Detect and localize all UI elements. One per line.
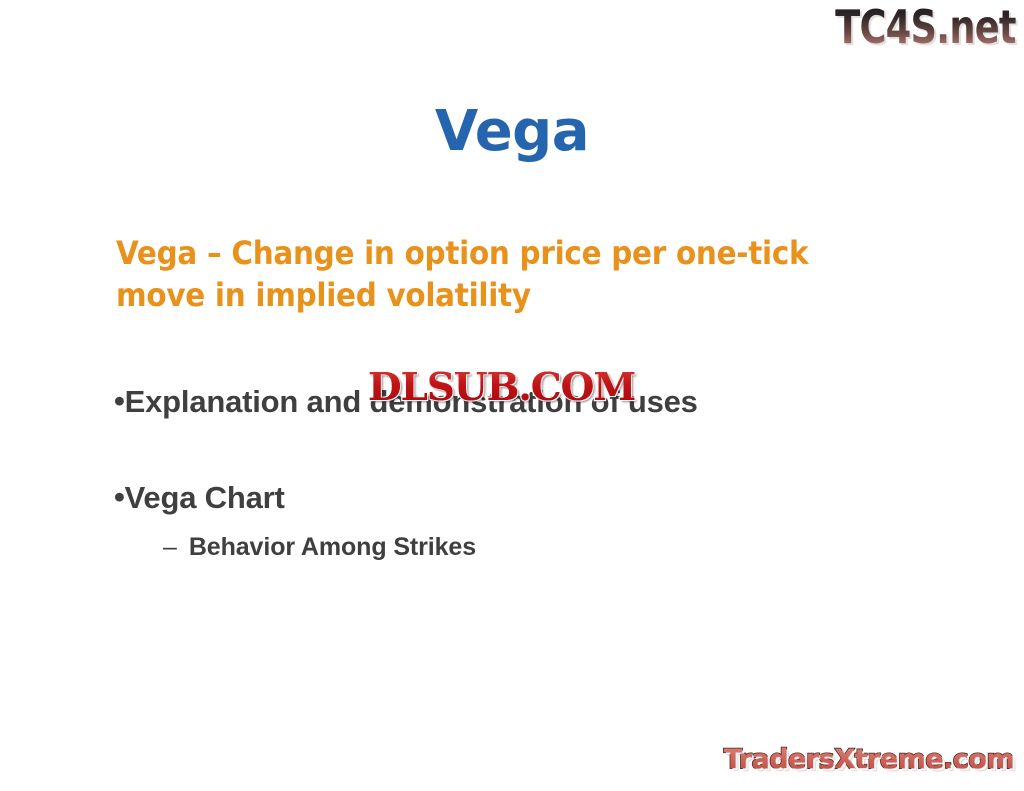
definition-line-1: Vega – Change in option price per one-ti… (116, 232, 843, 274)
bullet-dot-icon: • (114, 383, 125, 418)
page-title: Vega (0, 100, 1024, 164)
definition-block: Vega – Change in option price per one-ti… (116, 232, 843, 316)
bullet-dash-icon: – (163, 533, 189, 561)
slide-canvas: TC4S.net TC4S.net Vega Vega – Change in … (0, 0, 1024, 791)
bullet-behavior-among-strikes: –Behavior Among Strikes (163, 530, 476, 564)
tc4s-logo: TC4S.net (835, 2, 1016, 52)
definition-line-2: move in implied volatility (116, 274, 843, 316)
dlsub-watermark: DLSUB.COM (368, 366, 635, 408)
bullet-dot-icon: • (114, 479, 125, 514)
bullet-behavior-label: Behavior Among Strikes (189, 533, 476, 561)
tradersxtreme-logo: TradersXtreme.com (724, 743, 1014, 777)
bullet-vega-chart-label: Vega Chart (125, 480, 285, 515)
bullet-vega-chart: •Vega Chart (114, 477, 285, 518)
